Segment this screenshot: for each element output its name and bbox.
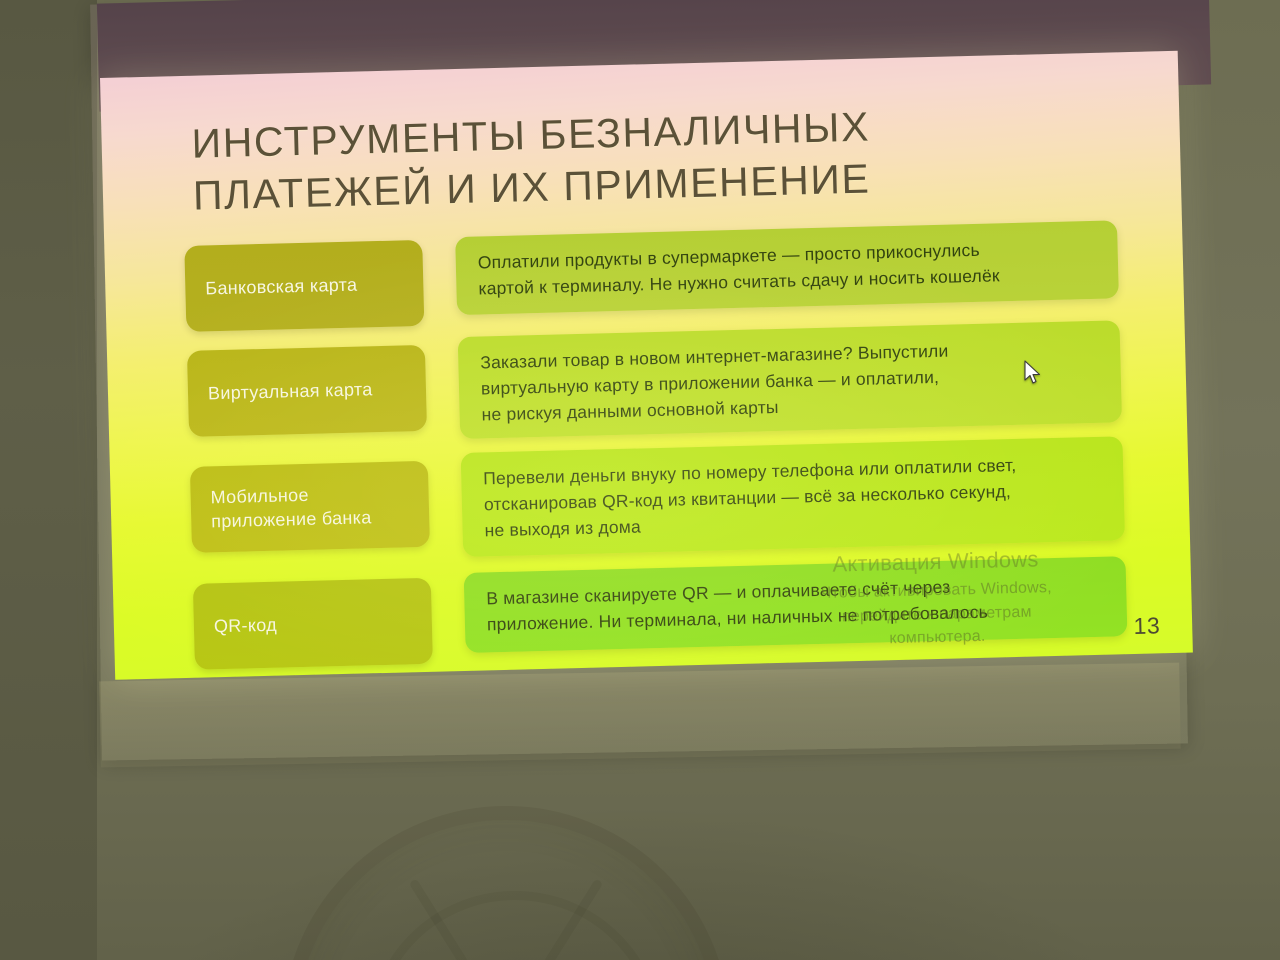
instrument-label-text: Банковская карта	[205, 272, 358, 300]
screenshot-root: ИНСТРУМЕНТЫ БЕЗНАЛИЧНЫХ ПЛАТЕЖЕЙ И ИХ ПР…	[0, 0, 1280, 960]
instrument-label-text: QR-код	[214, 613, 278, 639]
instrument-label-pill: Банковская карта	[184, 240, 424, 332]
instrument-label-text: Мобильное приложение банка	[210, 480, 409, 533]
mouse-pointer-icon	[1024, 360, 1042, 386]
slide-content-rows: Банковская карта Оплатили продукты в суп…	[104, 219, 1193, 680]
slide-row: QR-код В магазине сканируете QR — и опла…	[113, 555, 1193, 674]
slide-row: Виртуальная карта Заказали товар в новом…	[107, 323, 1187, 454]
instrument-description-pill: Заказали товар в новом интернет-магазине…	[458, 320, 1122, 439]
instrument-description-pill: Перевели деньги внуку по номеру телефона…	[461, 436, 1125, 557]
instrument-label-text: Виртуальная карта	[208, 377, 373, 405]
instrument-label-pill: Мобильное приложение банка	[190, 461, 430, 553]
instrument-label-pill: QR-код	[193, 578, 433, 670]
slide-page-number: 13	[1133, 612, 1160, 640]
slide-row: Банковская карта Оплатили продукты в суп…	[104, 219, 1184, 338]
wall-disc-inner-ring	[367, 891, 662, 960]
wall-left-strip	[0, 0, 97, 960]
slide-title: ИНСТРУМЕНТЫ БЕЗНАЛИЧНЫХ ПЛАТЕЖЕЙ И ИХ ПР…	[191, 95, 1093, 223]
instrument-description-pill: Оплатили продукты в супермаркете — прост…	[455, 220, 1119, 315]
slide-row: Мобильное приложение банка Перевели день…	[110, 439, 1190, 570]
instrument-description-pill: В магазине сканируете QR — и оплачиваете…	[464, 556, 1128, 653]
instrument-label-pill: Виртуальная карта	[187, 345, 427, 437]
